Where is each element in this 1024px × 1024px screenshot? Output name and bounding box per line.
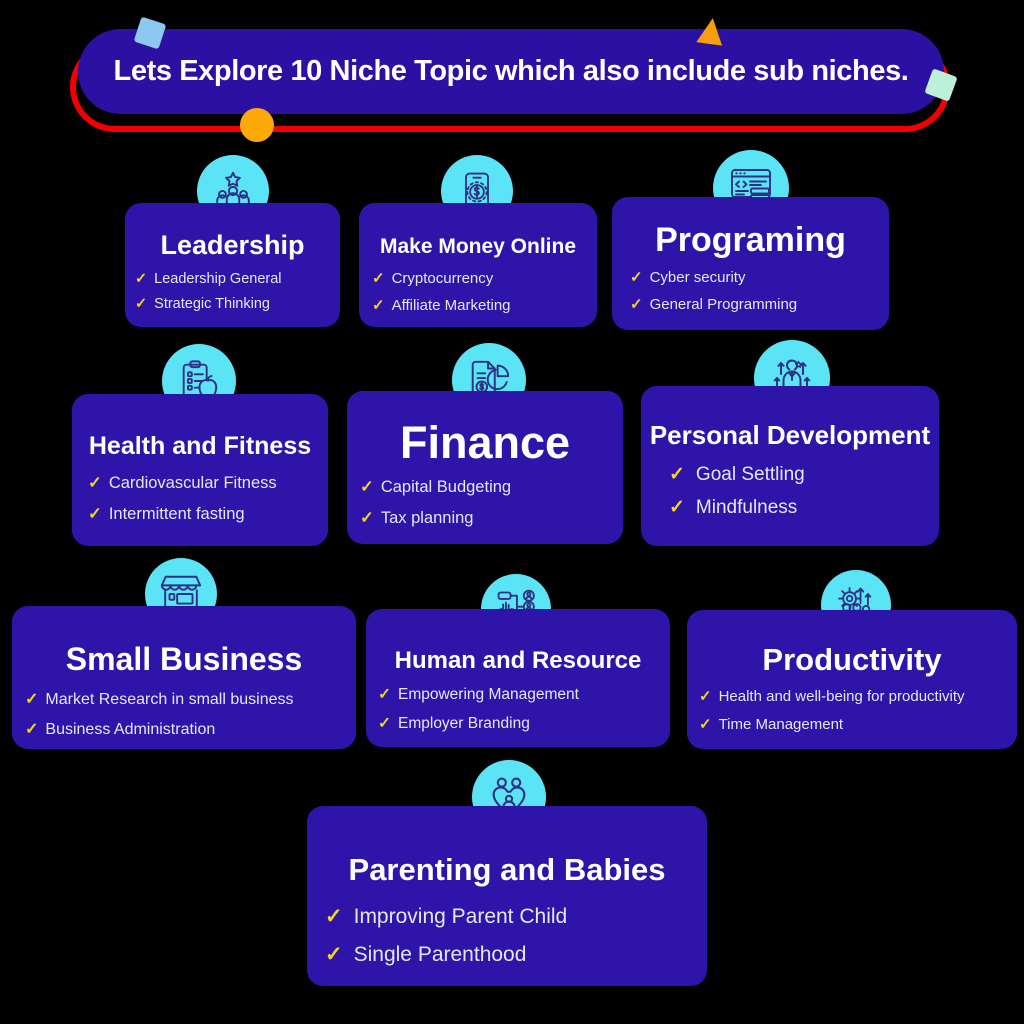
check-icon: ✓ [372, 296, 385, 314]
card-title: Make Money Online [359, 236, 597, 258]
list-item-label: Leadership General [154, 271, 281, 287]
card-leadership[interactable]: Leadership ✓Leadership General ✓Strategi… [125, 203, 340, 327]
list-item: ✓Employer Branding [378, 714, 670, 733]
list-item-label: Capital Budgeting [381, 478, 511, 497]
card-sub-niche-list: ✓Cryptocurrency ✓Affiliate Marketing [359, 269, 597, 323]
list-item-label: Cardiovascular Fitness [109, 474, 277, 493]
list-item: ✓Intermittent fasting [88, 504, 328, 524]
card-sub-niche-list: ✓Goal Settling ✓Mindfulness [641, 463, 939, 529]
list-item-label: Cryptocurrency [392, 270, 494, 287]
list-item: ✓Time Management [699, 715, 1017, 733]
check-icon: ✓ [669, 463, 685, 486]
list-item-label: Time Management [719, 716, 844, 733]
card-title: Health and Fitness [72, 433, 328, 459]
list-item-label: Market Research in small business [45, 691, 293, 709]
check-icon: ✓ [378, 685, 391, 704]
card-programing[interactable]: Programing ✓Cyber security ✓General Prog… [612, 197, 889, 330]
list-item: ✓Health and well-being for productivity [699, 687, 1017, 705]
card-sub-niche-list: ✓Empowering Management ✓Employer Brandin… [366, 685, 670, 743]
list-item-label: Intermittent fasting [109, 505, 245, 524]
check-icon: ✓ [630, 268, 643, 286]
list-item: ✓Cardiovascular Fitness [88, 473, 328, 493]
card-title: Parenting and Babies [307, 854, 707, 887]
list-item: ✓Leadership General [135, 271, 340, 287]
decor-triangle-orange-icon [696, 16, 725, 45]
list-item-label: Business Administration [45, 721, 215, 739]
card-sub-niche-list: ✓Health and well-being for productivity … [687, 687, 1017, 743]
card-small-business[interactable]: Small Business ✓Market Research in small… [12, 606, 356, 749]
card-title: Small Business [12, 643, 356, 677]
card-human-and-resource[interactable]: Human and Resource ✓Empowering Managemen… [366, 609, 670, 747]
card-sub-niche-list: ✓Capital Budgeting ✓Tax planning [347, 477, 623, 539]
check-icon: ✓ [25, 689, 38, 709]
card-sub-niche-list: ✓Market Research in small business ✓Busi… [12, 689, 356, 749]
card-title: Finance [347, 419, 623, 466]
check-icon: ✓ [88, 473, 102, 493]
check-icon: ✓ [360, 508, 374, 528]
list-item-label: Empowering Management [398, 686, 579, 704]
check-icon: ✓ [325, 942, 343, 967]
check-icon: ✓ [360, 477, 374, 497]
check-icon: ✓ [630, 295, 643, 313]
list-item-label: Improving Parent Child [354, 905, 568, 929]
list-item: ✓Improving Parent Child [325, 904, 707, 929]
card-make-money-online[interactable]: Make Money Online ✓Cryptocurrency ✓Affil… [359, 203, 597, 327]
check-icon: ✓ [378, 714, 391, 733]
card-productivity[interactable]: Productivity ✓Health and well-being for … [687, 610, 1017, 749]
list-item-label: Employer Branding [398, 715, 530, 733]
check-icon: ✓ [25, 719, 38, 739]
card-sub-niche-list: ✓Cardiovascular Fitness ✓Intermittent fa… [72, 473, 328, 535]
list-item: ✓Empowering Management [378, 685, 670, 704]
check-icon: ✓ [372, 269, 385, 287]
list-item-label: Mindfulness [696, 497, 797, 519]
card-title: Personal Development [641, 422, 939, 449]
list-item-label: Goal Settling [696, 464, 805, 486]
decor-dot-orange-icon [240, 108, 274, 142]
card-parenting-and-babies[interactable]: Parenting and Babies ✓Improving Parent C… [307, 806, 707, 986]
check-icon: ✓ [135, 296, 147, 312]
page-title: Lets Explore 10 Niche Topic which also i… [114, 55, 909, 88]
list-item: ✓Single Parenthood [325, 942, 707, 967]
list-item: ✓Goal Settling [669, 463, 939, 486]
list-item: ✓Cryptocurrency [372, 269, 597, 287]
list-item: ✓Tax planning [360, 508, 623, 528]
infographic-canvas: Lets Explore 10 Niche Topic which also i… [0, 0, 1024, 1024]
check-icon: ✓ [325, 904, 343, 929]
check-icon: ✓ [135, 271, 147, 287]
card-sub-niche-list: ✓Cyber security ✓General Programming [612, 268, 889, 322]
check-icon: ✓ [699, 715, 712, 733]
list-item: ✓General Programming [630, 295, 889, 313]
list-item-label: General Programming [650, 296, 798, 313]
header-pill: Lets Explore 10 Niche Topic which also i… [78, 29, 944, 114]
list-item-label: Single Parenthood [354, 943, 527, 967]
check-icon: ✓ [88, 504, 102, 524]
list-item: ✓Affiliate Marketing [372, 296, 597, 314]
card-finance[interactable]: Finance ✓Capital Budgeting ✓Tax planning [347, 391, 623, 544]
list-item-label: Strategic Thinking [154, 296, 270, 312]
check-icon: ✓ [669, 496, 685, 519]
list-item: ✓Strategic Thinking [135, 296, 340, 312]
card-health-and-fitness[interactable]: Health and Fitness ✓Cardiovascular Fitne… [72, 394, 328, 546]
header-banner: Lets Explore 10 Niche Topic which also i… [0, 0, 1024, 150]
card-sub-niche-list: ✓Improving Parent Child ✓Single Parentho… [307, 904, 707, 980]
list-item: ✓Cyber security [630, 268, 889, 286]
list-item-label: Tax planning [381, 509, 474, 528]
card-title: Leadership [125, 231, 340, 259]
check-icon: ✓ [699, 687, 712, 705]
card-title: Programing [612, 223, 889, 259]
card-title: Human and Resource [366, 648, 670, 673]
card-sub-niche-list: ✓Leadership General ✓Strategic Thinking [125, 271, 340, 321]
list-item-label: Health and well-being for productivity [719, 688, 965, 705]
card-personal-development[interactable]: Personal Development ✓Goal Settling ✓Min… [641, 386, 939, 546]
list-item: ✓Business Administration [25, 719, 356, 739]
list-item: ✓Mindfulness [669, 496, 939, 519]
list-item: ✓Market Research in small business [25, 689, 356, 709]
list-item-label: Cyber security [650, 269, 746, 286]
list-item: ✓Capital Budgeting [360, 477, 623, 497]
card-title: Productivity [687, 644, 1017, 677]
list-item-label: Affiliate Marketing [392, 297, 511, 314]
